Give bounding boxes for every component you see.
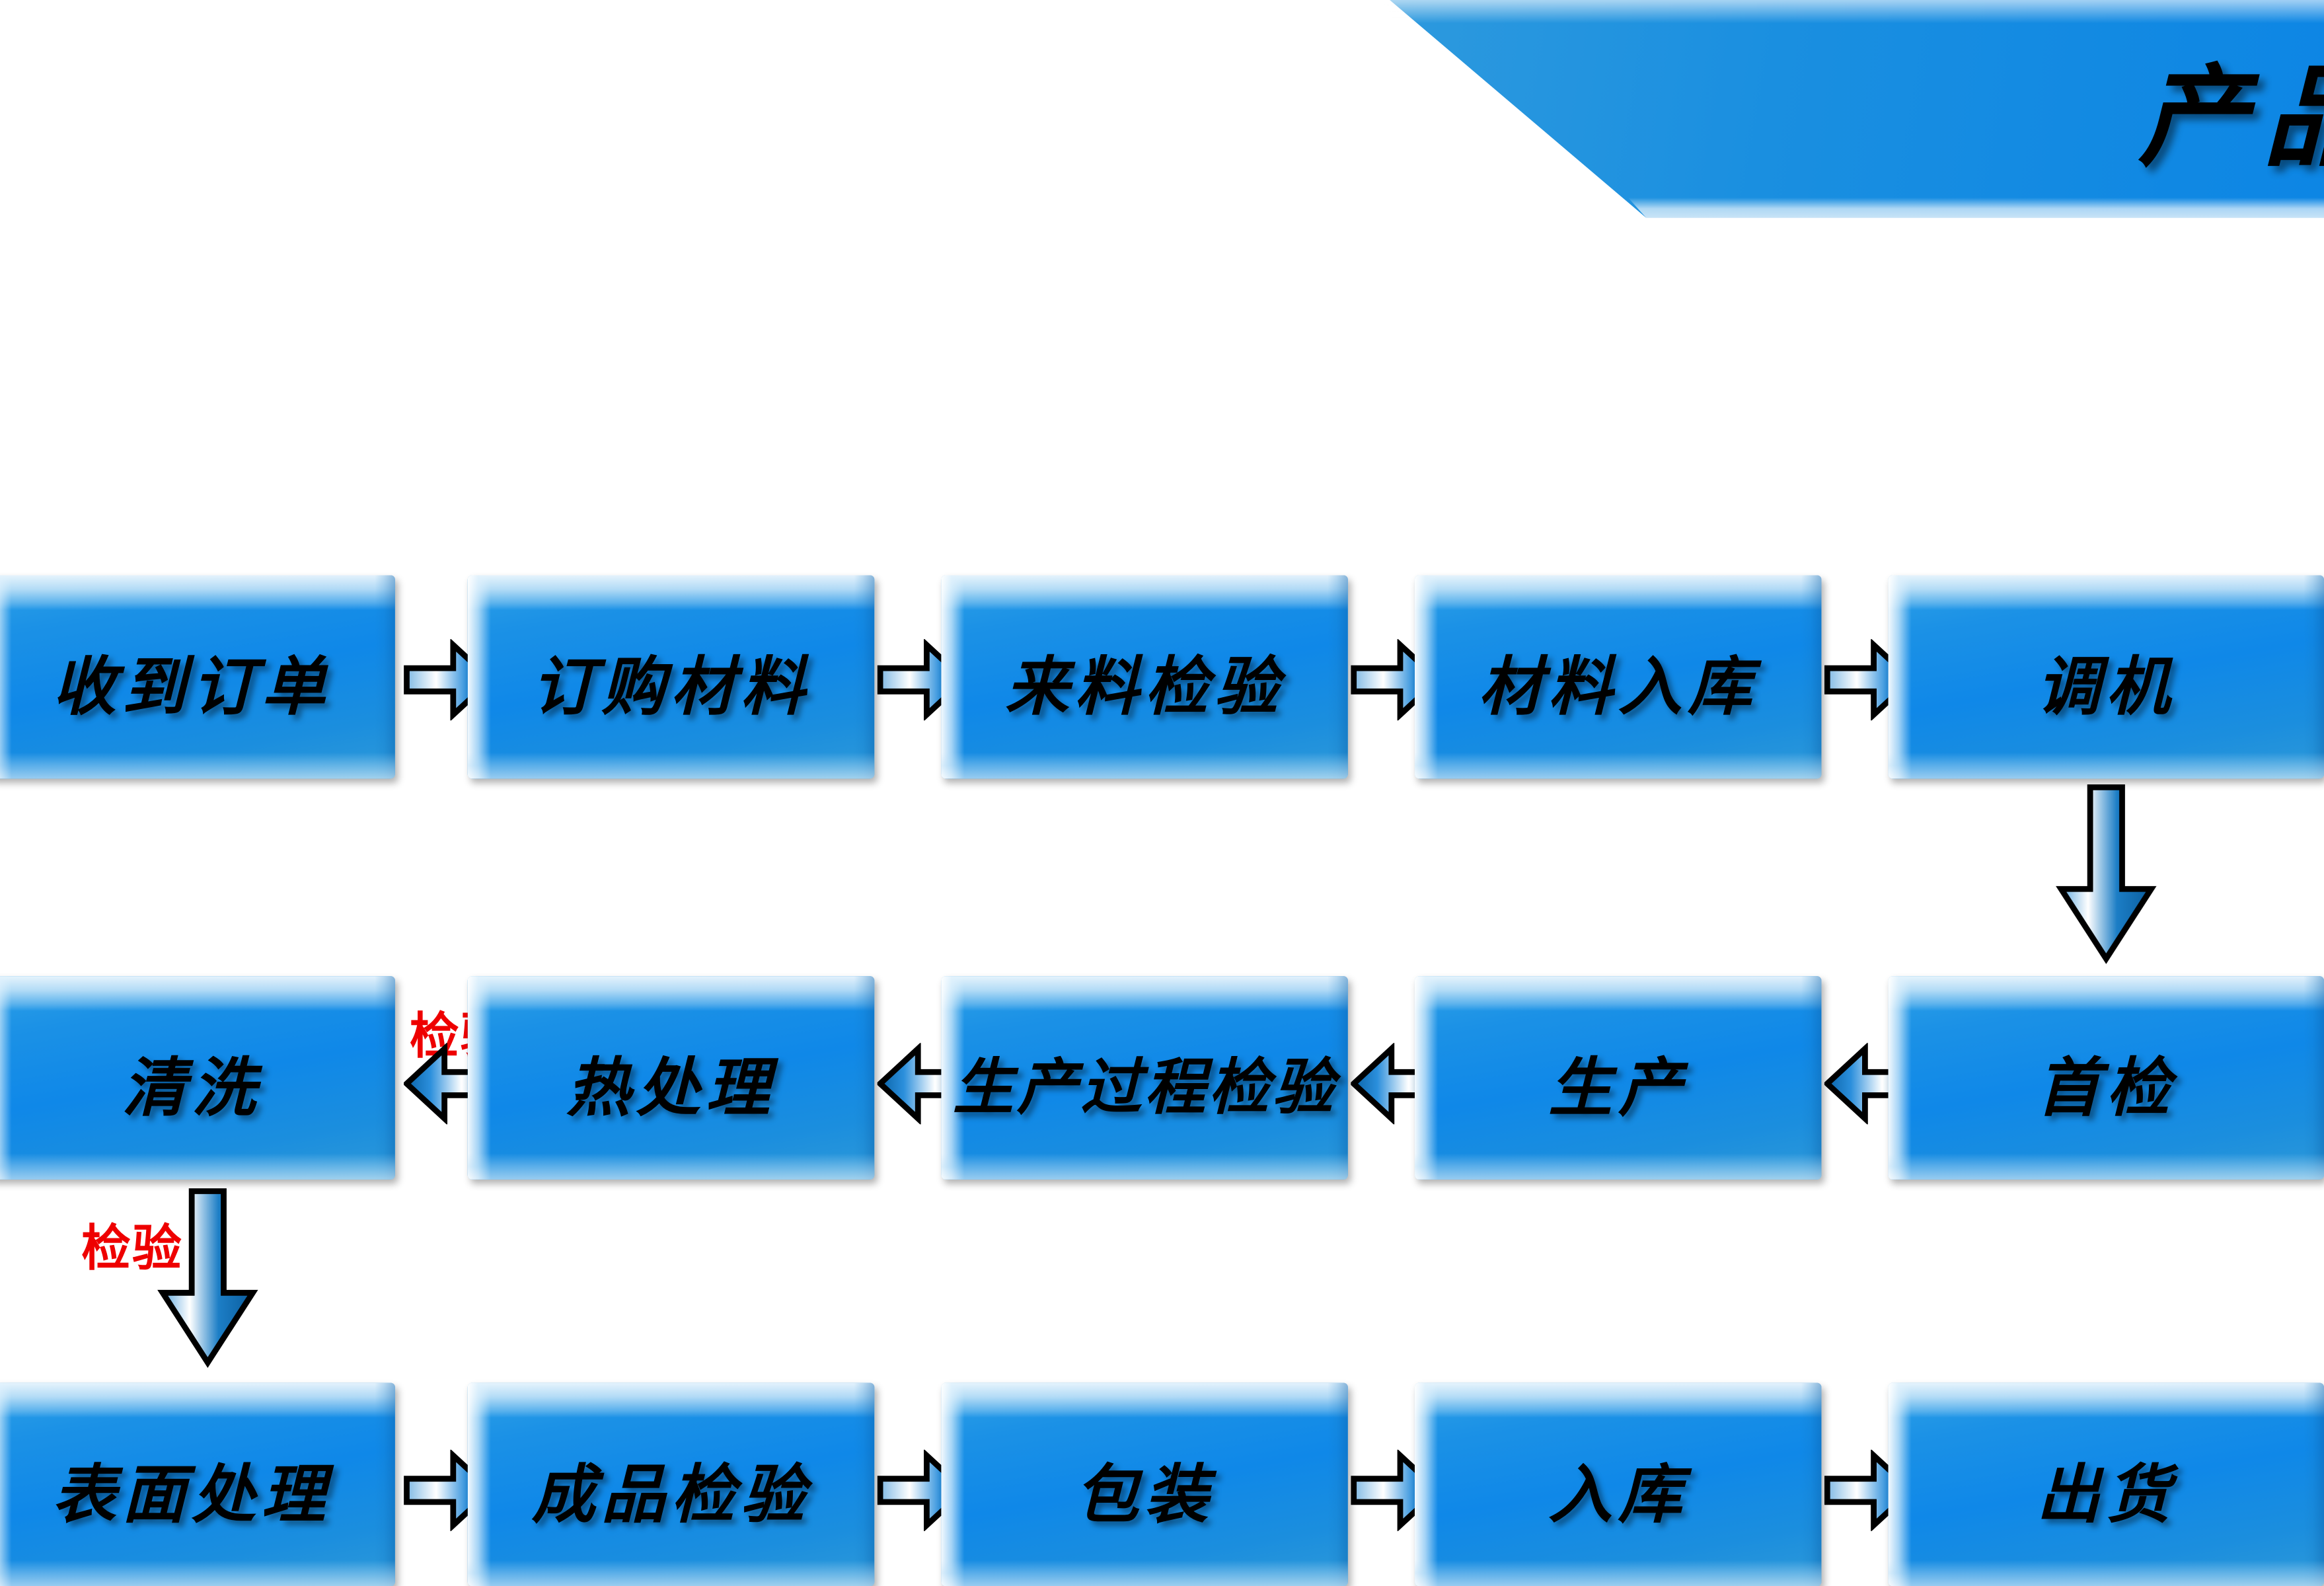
node-label: 出货	[1889, 1383, 2324, 1586]
process-node-packaging[interactable]: 包装	[941, 1383, 1347, 1586]
node-label: 收到订单	[0, 575, 395, 778]
process-node-shipment[interactable]: 出货	[1889, 1383, 2324, 1586]
process-node-order-materials[interactable]: 订购材料	[468, 575, 874, 778]
process-node-receive-order[interactable]: 收到订单	[0, 575, 395, 778]
process-node-stock-in[interactable]: 入库	[1415, 1383, 1821, 1586]
process-node-surface-treatment[interactable]: 表面处理	[0, 1383, 395, 1586]
page-title: 产品生产流程	[1372, 0, 2324, 218]
node-label: 热处理	[468, 976, 874, 1180]
diagram-canvas: 产品生产流程 收到订单 订购材料 来料检验	[0, 0, 2324, 796]
node-label: 来料检验	[941, 575, 1347, 778]
process-node-cleaning[interactable]: 清洗	[0, 976, 395, 1180]
node-label: 成品检验	[468, 1383, 874, 1586]
process-node-first-article-inspection[interactable]: 首检	[1889, 976, 2324, 1180]
node-label: 首检	[1889, 976, 2324, 1180]
node-label: 包装	[941, 1383, 1347, 1586]
process-node-in-process-inspection[interactable]: 生产过程检验	[941, 976, 1347, 1180]
process-node-material-warehousing[interactable]: 材料入库	[1415, 575, 1821, 778]
node-label: 表面处理	[0, 1383, 395, 1586]
arrow-down-r2-to-r3	[157, 1188, 258, 1369]
node-label: 清洗	[0, 976, 395, 1180]
node-label: 生产	[1415, 976, 1821, 1180]
node-label: 入库	[1415, 1383, 1821, 1586]
process-node-incoming-inspection[interactable]: 来料检验	[941, 575, 1347, 778]
node-label: 生产过程检验	[941, 976, 1347, 1180]
process-node-machine-setup[interactable]: 调机	[1889, 575, 2324, 778]
arrow-down-r1-to-r2	[2055, 784, 2157, 965]
process-node-final-inspection[interactable]: 成品检验	[468, 1383, 874, 1586]
node-label: 调机	[1889, 575, 2324, 778]
node-label: 材料入库	[1415, 575, 1821, 778]
process-node-production[interactable]: 生产	[1415, 976, 1821, 1180]
diagram-title-banner: 产品生产流程	[1372, 0, 2324, 218]
process-node-heat-treatment[interactable]: 热处理	[468, 976, 874, 1180]
node-label: 订购材料	[468, 575, 874, 778]
